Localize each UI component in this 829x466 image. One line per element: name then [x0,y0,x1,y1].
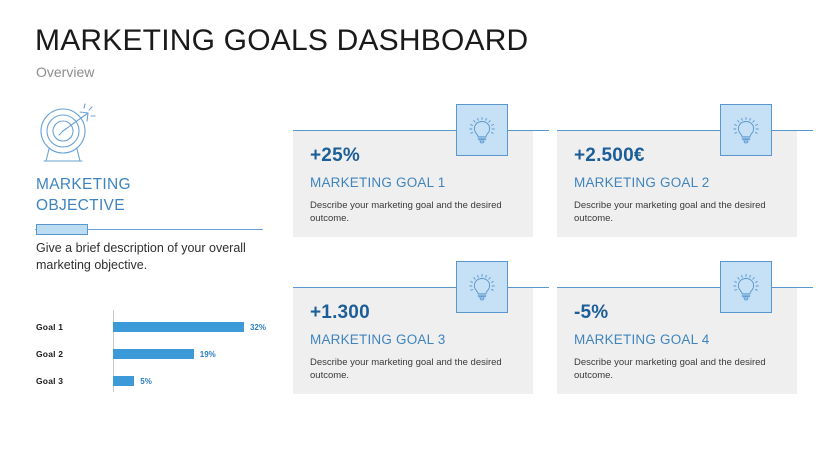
goal-card-title: MARKETING GOAL 2 [574,175,709,190]
lightbulb-icon [720,104,772,156]
lightbulb-icon [456,104,508,156]
chart-bar [113,349,194,359]
chart-value-label: 19% [200,350,216,359]
chart-row: Goal 1 32% [36,314,266,340]
chart-bar-track: 32% [113,322,266,332]
goal-card-title: MARKETING GOAL 1 [310,175,445,190]
chart-value-label: 32% [250,323,266,332]
chart-bar [113,376,134,386]
objective-heading: MARKETING OBJECTIVE [36,174,256,216]
goal-card-title: MARKETING GOAL 4 [574,332,709,347]
page-title: MARKETING GOALS DASHBOARD [35,24,528,58]
goal-card-description: Describe your marketing goal and the des… [310,199,510,225]
target-arrow-icon [33,100,99,166]
chart-category-label: Goal 1 [36,322,106,332]
objective-description: Give a brief description of your overall… [36,240,251,274]
page-subtitle: Overview [36,64,94,80]
slide-canvas: MARKETING GOALS DASHBOARD Overview MARKE… [0,0,829,466]
goal-card-title: MARKETING GOAL 3 [310,332,445,347]
chart-category-label: Goal 2 [36,349,106,359]
goal-card-value: +25% [310,145,360,167]
chart-bar-track: 19% [113,349,266,359]
objective-divider-block [36,224,88,235]
goal-card-value: -5% [574,302,608,324]
chart-row: Goal 3 5% [36,368,266,394]
lightbulb-icon [456,261,508,313]
goal-card-description: Describe your marketing goal and the des… [310,356,510,382]
goal-card-value: +1.300 [310,302,370,324]
goals-bar-chart: Goal 1 32% Goal 2 19% Goal 3 5% [36,310,266,392]
chart-bar-track: 5% [113,376,266,386]
chart-bar [113,322,244,332]
lightbulb-icon [720,261,772,313]
goal-card-description: Describe your marketing goal and the des… [574,356,774,382]
objective-heading-line1: MARKETING [36,174,256,195]
goal-card-description: Describe your marketing goal and the des… [574,199,774,225]
chart-row: Goal 2 19% [36,341,266,367]
chart-category-label: Goal 3 [36,376,106,386]
goal-card-value: +2.500€ [574,145,645,167]
chart-value-label: 5% [140,377,152,386]
objective-heading-line2: OBJECTIVE [36,195,256,216]
